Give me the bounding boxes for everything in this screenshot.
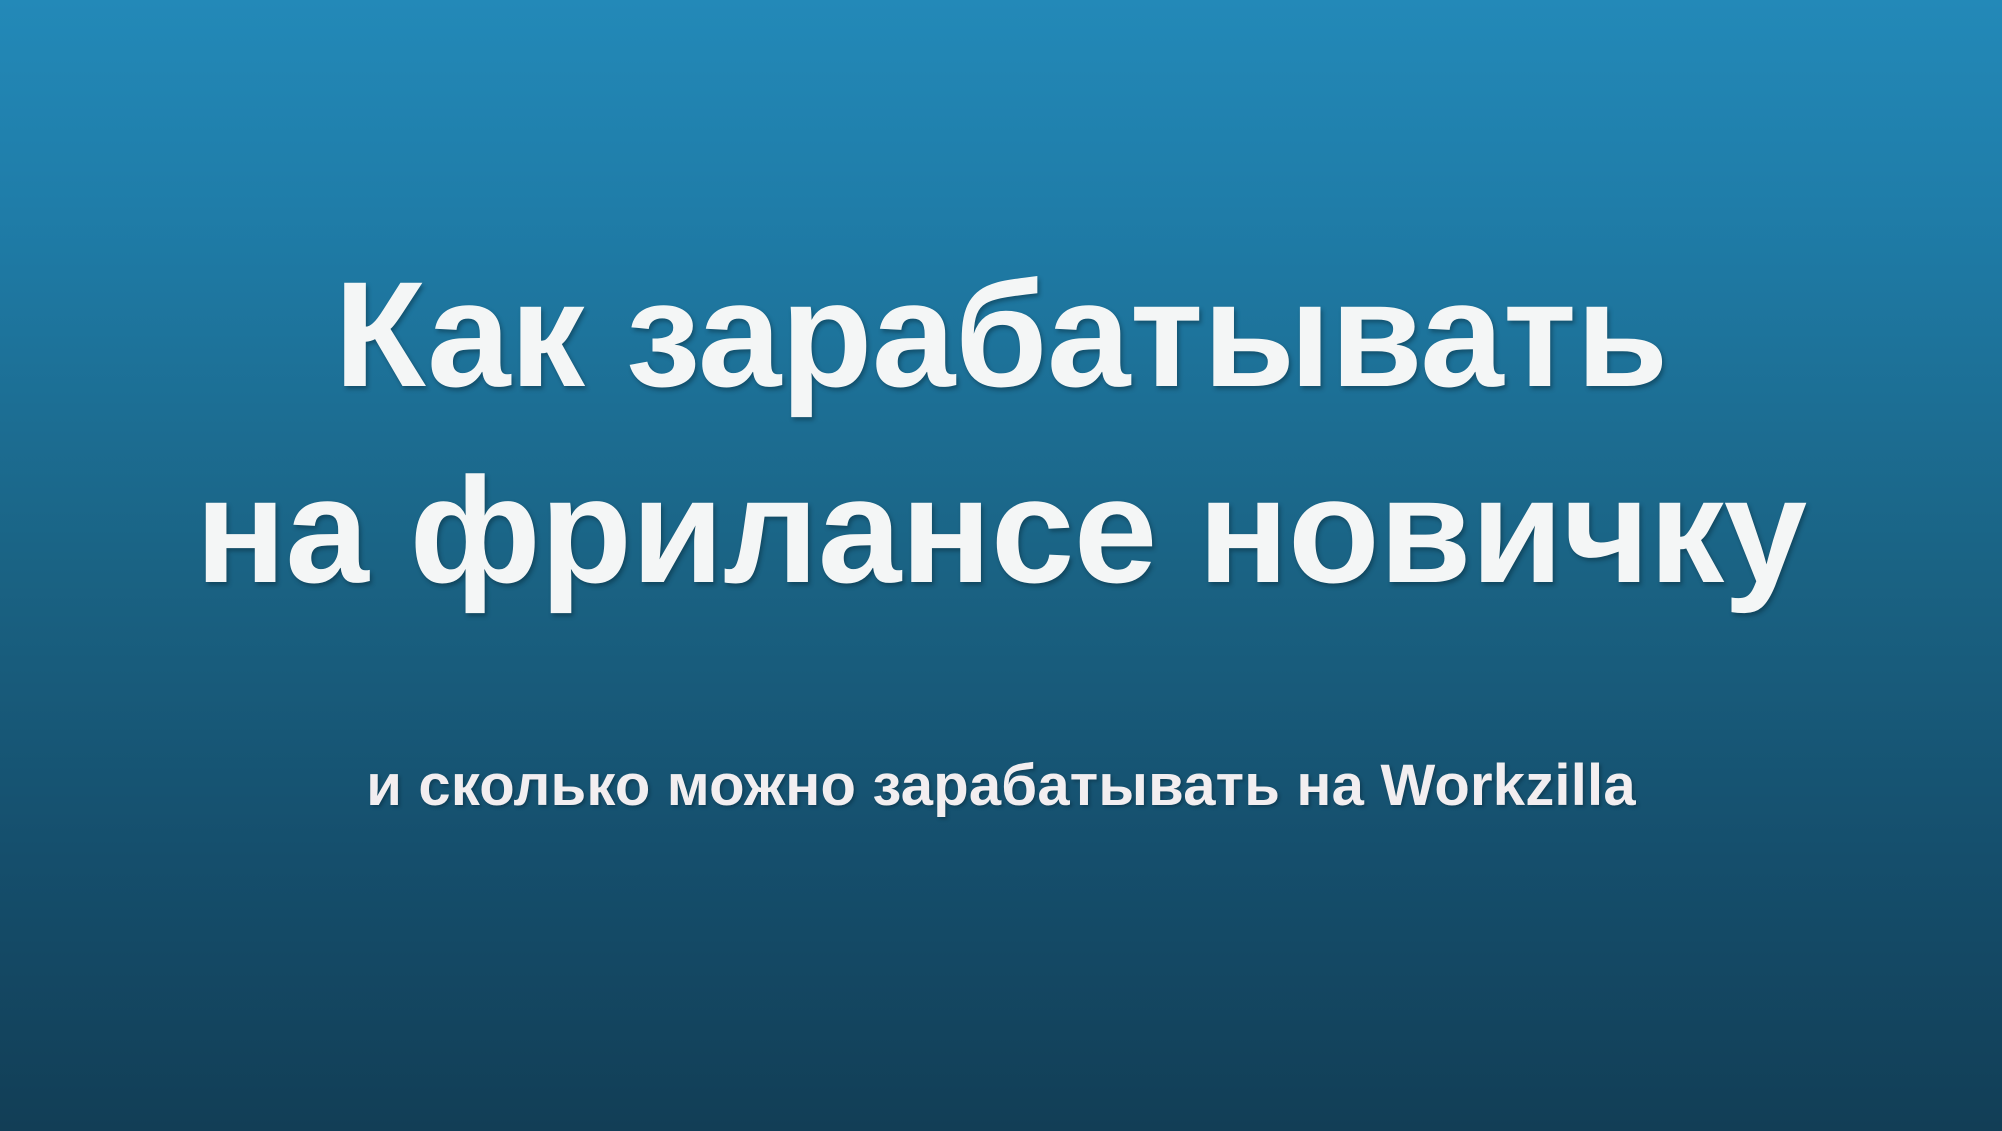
title-slide: Как зарабатывать на фрилансе новичку и с… — [0, 0, 2002, 1131]
slide-subtitle: и сколько можно зарабатывать на Workzill… — [0, 750, 2002, 822]
subtitle-text: и сколько можно зарабатывать на Workzill… — [0, 750, 2002, 822]
slide-title: Как зарабатывать на фрилансе новичку — [0, 236, 2002, 628]
title-line-1: Как зарабатывать — [0, 236, 2002, 432]
title-line-2: на фрилансе новичку — [0, 432, 2002, 628]
